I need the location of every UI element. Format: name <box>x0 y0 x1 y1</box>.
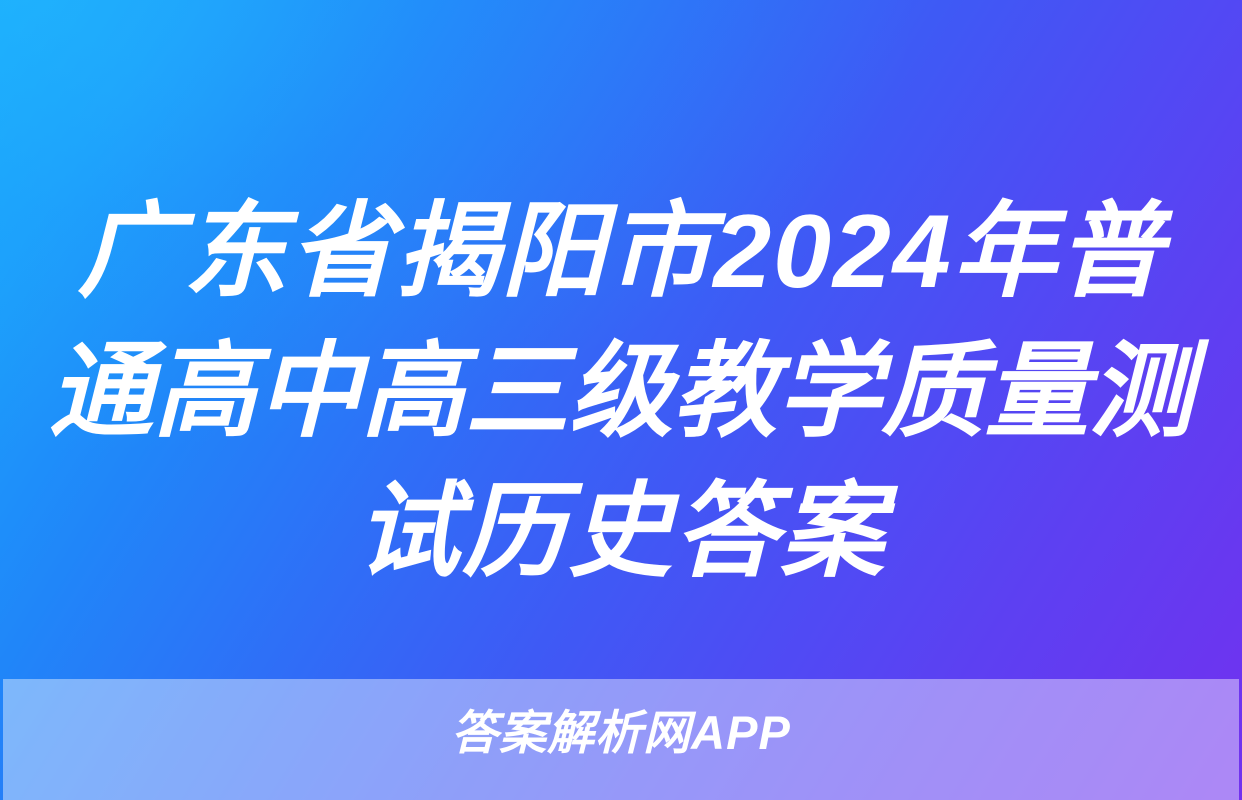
title-line-3: 试历史答案 <box>46 462 1196 602</box>
title-line-1: 广东省揭阳市2024年普 <box>46 182 1196 322</box>
title-line-2: 通高中高三级教学质量测 <box>46 322 1196 462</box>
poster-title: 广东省揭阳市2024年普 通高中高三级教学质量测 试历史答案 <box>0 182 1242 602</box>
watermark-app-name: 答案解析网APP <box>0 704 1242 762</box>
poster-canvas: 广东省揭阳市2024年普 通高中高三级教学质量测 试历史答案 答案解析网APP <box>0 0 1242 800</box>
